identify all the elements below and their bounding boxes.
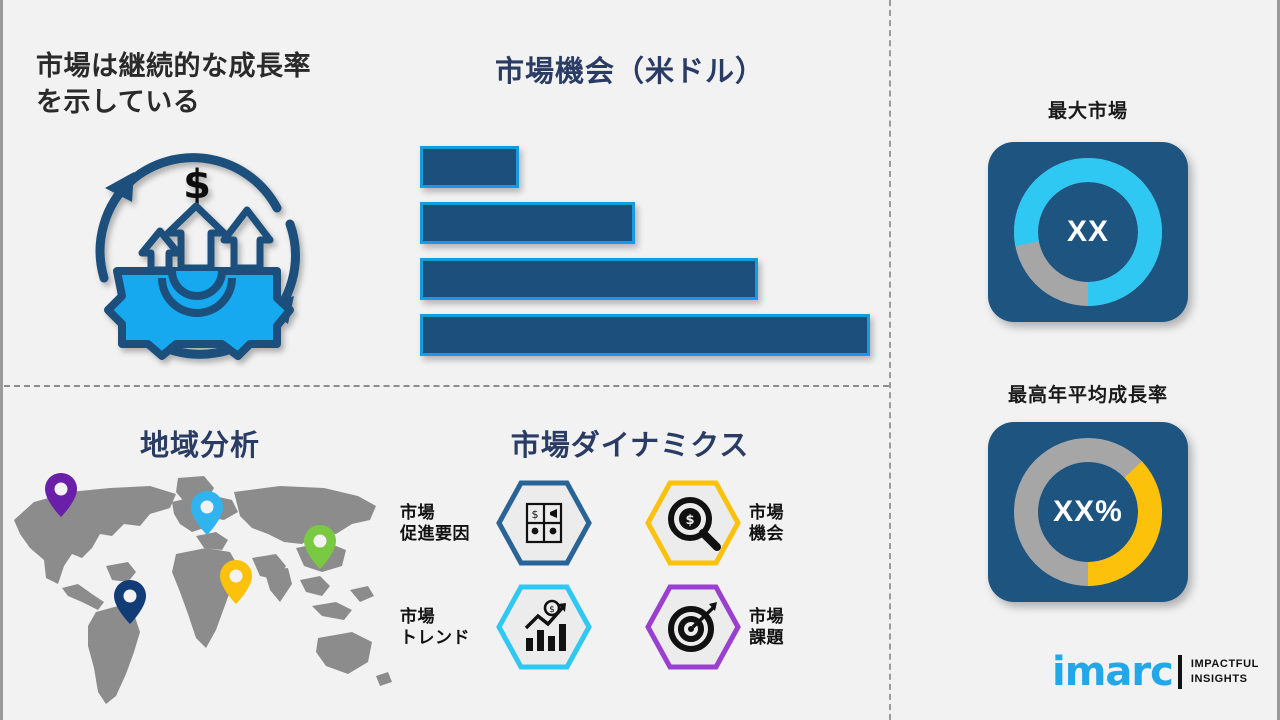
horizontal-dashed-divider (4, 385, 889, 387)
pin-south-america (113, 579, 147, 625)
market-dynamics-title: 市場ダイナミクス (420, 422, 840, 464)
svg-text:$: $ (183, 162, 211, 208)
imarc-logo: imarc IMPACTFUL INSIGHTS (1052, 652, 1259, 692)
kpi-largest-market-card: XX (988, 142, 1188, 322)
dynamics-item-trends[interactable]: 市場 トレンド $ (400, 582, 592, 672)
magnifier-dollar-icon: $ (645, 480, 741, 566)
dynamics-item-challenges-label: 市場 課題 (741, 606, 829, 649)
svg-text:$: $ (532, 508, 539, 521)
pin-middle-east-africa (219, 559, 253, 605)
bar-row-4 (420, 314, 870, 356)
pin-europe (190, 490, 224, 536)
target-dart-icon (645, 584, 741, 670)
bar-row-3 (420, 258, 758, 300)
dynamics-item-trends-label: 市場 トレンド (400, 606, 496, 649)
dynamics-item-challenges[interactable]: 市場 課題 (645, 582, 829, 672)
dynamics-item-opportunities-label: 市場 機会 (741, 502, 829, 545)
pin-north-america (44, 472, 78, 518)
kpi-highest-cagr-value: XX% (988, 495, 1188, 529)
bar-row-1 (420, 146, 519, 188)
dynamics-item-drivers-label: 市場 促進要因 (400, 502, 496, 545)
vertical-dashed-divider (889, 0, 891, 720)
dynamics-item-drivers[interactable]: 市場 促進要因 $ (400, 478, 592, 568)
bar-chart-growth-icon: $ (496, 584, 592, 670)
growth-statement-title: 市場は継続的な成長率 を示している (36, 48, 386, 121)
svg-text:$: $ (549, 605, 555, 615)
logo-divider-bar (1178, 655, 1182, 689)
puzzle-map-icon: $ (496, 480, 592, 566)
imarc-wordmark: imarc (1052, 652, 1173, 692)
kpi-largest-market-heading: 最大市場 (958, 96, 1218, 123)
kpi-largest-market-value: XX (988, 215, 1188, 249)
imarc-tagline: IMPACTFUL INSIGHTS (1191, 657, 1259, 687)
growth-cycle-gear-icon: $ (72, 128, 322, 368)
market-opportunity-bar-chart (420, 146, 880, 356)
kpi-highest-cagr-card: XX% (988, 422, 1188, 602)
bar-row-2 (420, 202, 635, 244)
regional-analysis-title: 地域分析 (60, 422, 340, 464)
market-dynamics-grid: 市場 促進要因 $ (400, 478, 850, 678)
market-opportunity-chart-title: 市場機会（米ドル） (400, 48, 860, 90)
dynamics-item-opportunities[interactable]: $ 市場 機会 (645, 478, 829, 568)
pin-east-asia (303, 524, 337, 570)
svg-text:$: $ (685, 513, 694, 528)
slide-canvas: 市場は継続的な成長率 を示している $ (0, 0, 1280, 720)
kpi-highest-cagr-heading: 最高年平均成長率 (958, 380, 1218, 407)
